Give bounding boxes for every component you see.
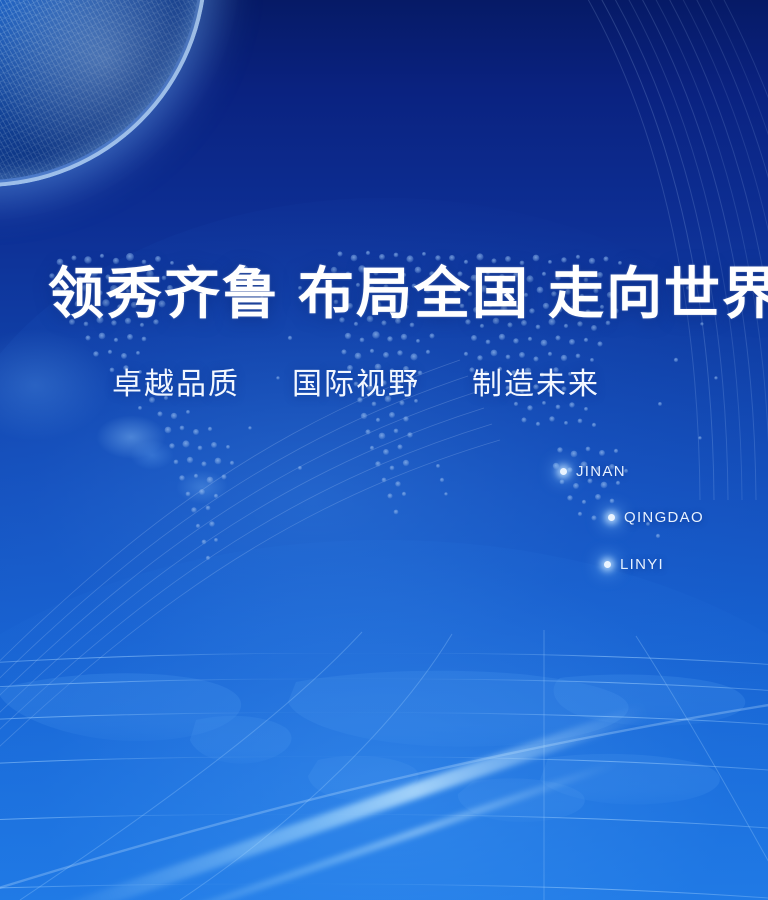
subline-part-1: 卓越品质 xyxy=(112,367,240,402)
orbit-arc-lines-icon xyxy=(448,0,768,500)
globe-texture xyxy=(0,0,200,180)
map-marker-label: LINYI xyxy=(620,556,664,573)
subline-part-3: 制造未来 xyxy=(472,367,600,402)
map-marker-linyi[interactable]: LINYI xyxy=(604,556,664,573)
location-dot-icon xyxy=(604,561,611,568)
light-streak-icon xyxy=(37,704,647,900)
ambient-orb-a xyxy=(96,415,166,459)
headline-part-1: 领秀齐鲁 xyxy=(48,261,280,327)
earth-globe-icon xyxy=(0,0,200,180)
ambient-orb-c xyxy=(176,470,228,504)
globe-body xyxy=(0,0,200,180)
headline-part-2: 布局全国 xyxy=(298,261,530,327)
ambient-orb-left xyxy=(0,330,110,440)
map-marker-label: QINGDAO xyxy=(624,509,704,526)
ambient-orb-b xyxy=(130,440,174,470)
location-dot-icon xyxy=(608,514,615,521)
light-streak-secondary xyxy=(89,759,621,900)
page-subtitle: 卓越品质国际视野制造未来 xyxy=(112,370,732,400)
page-title: 领秀齐鲁布局全国走向世界 xyxy=(48,266,728,322)
subline-part-2: 国际视野 xyxy=(292,367,420,402)
map-marker-jinan[interactable]: JINAN xyxy=(560,463,626,480)
hero-banner: 领秀齐鲁布局全国走向世界 卓越品质国际视野制造未来 JINAN QINGDAO … xyxy=(0,0,768,900)
map-marker-label: JINAN xyxy=(576,463,626,480)
perspective-grid-globe-icon xyxy=(0,570,768,900)
headline-part-3: 走向世界 xyxy=(548,261,768,327)
map-marker-qingdao[interactable]: QINGDAO xyxy=(608,509,704,526)
bottom-glow xyxy=(0,540,768,900)
globe-atmosphere-rim xyxy=(0,0,207,187)
globe-shading xyxy=(0,0,200,180)
globe-halo xyxy=(0,0,240,220)
location-dot-icon xyxy=(560,468,567,475)
